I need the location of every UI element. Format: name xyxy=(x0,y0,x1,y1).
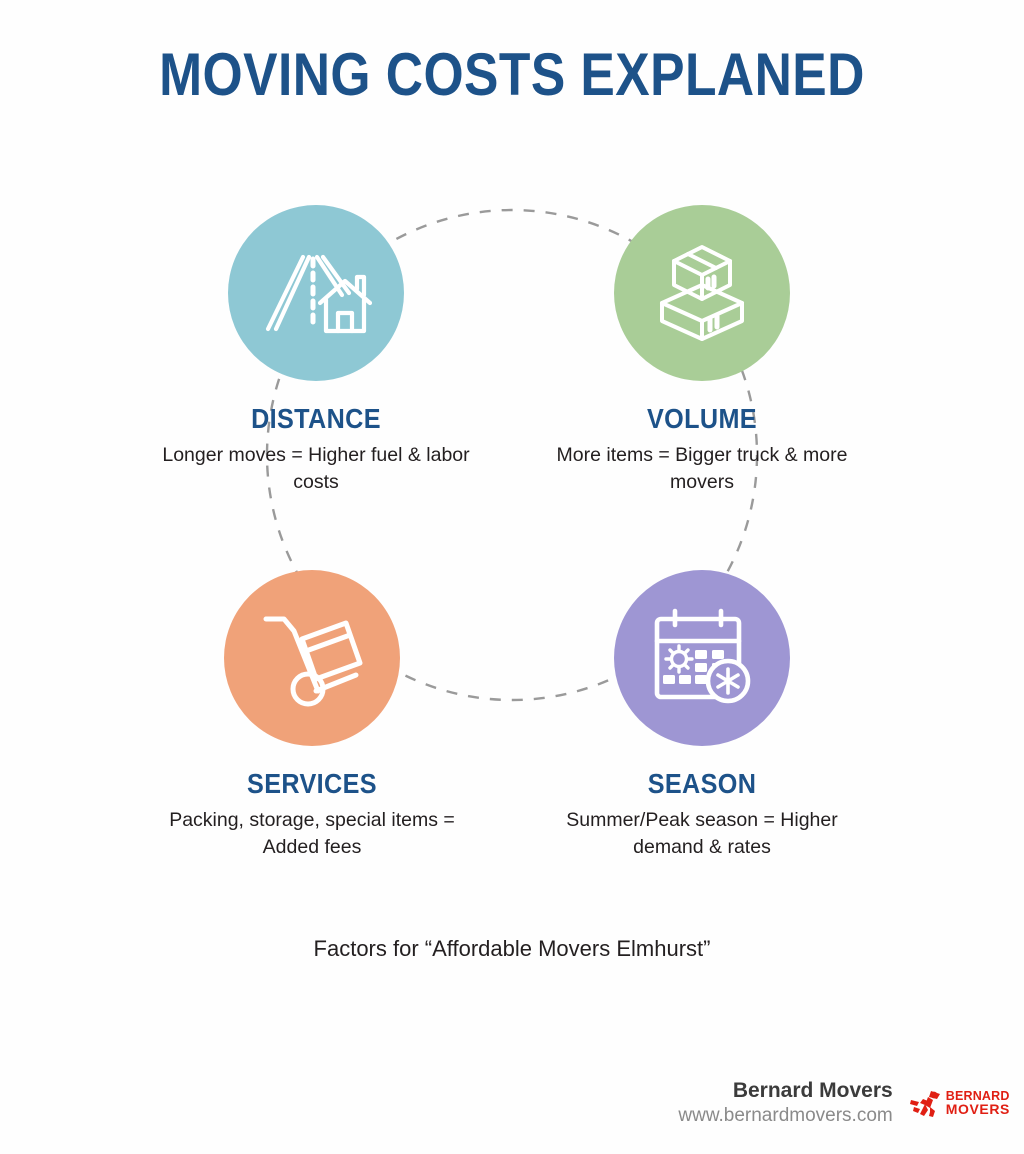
logo-line-2: MOVERS xyxy=(946,1102,1010,1116)
node-desc-volume: More items = Bigger truck & more movers xyxy=(522,442,882,496)
page-title: MOVING COSTS EXPLANED xyxy=(72,40,953,109)
icon-circle-volume xyxy=(614,205,790,381)
footer-text-block: Bernard Movers www.bernardmovers.com xyxy=(678,1078,892,1128)
node-volume[interactable]: VOLUME More items = Bigger truck & more … xyxy=(522,205,882,496)
footer: Bernard Movers www.bernardmovers.com BER… xyxy=(678,1078,1010,1128)
bernard-movers-running-figure-icon xyxy=(909,1088,943,1118)
node-label-services: SERVICES xyxy=(150,768,474,800)
node-label-volume: VOLUME xyxy=(540,403,864,435)
node-season[interactable]: SEASON Summer/Peak season = Higher deman… xyxy=(522,570,882,861)
footer-brand-name: Bernard Movers xyxy=(678,1078,892,1104)
brand-logo[interactable]: BERNARD MOVERS xyxy=(909,1088,1010,1118)
footer-website-url[interactable]: www.bernardmovers.com xyxy=(678,1104,892,1128)
node-distance[interactable]: DISTANCE Longer moves = Higher fuel & la… xyxy=(136,205,496,496)
node-desc-services: Packing, storage, special items = Added … xyxy=(132,807,492,861)
node-label-season: SEASON xyxy=(540,768,864,800)
node-services[interactable]: SERVICES Packing, storage, special items… xyxy=(132,570,492,861)
icon-circle-services xyxy=(224,570,400,746)
stacked-boxes-icon xyxy=(650,241,754,345)
caption-text: Factors for “Affordable Movers Elmhurst” xyxy=(0,936,1024,962)
node-label-distance: DISTANCE xyxy=(154,403,478,435)
node-desc-distance: Longer moves = Higher fuel & labor costs xyxy=(136,442,496,496)
logo-wordmark: BERNARD MOVERS xyxy=(946,1090,1010,1117)
infographic-canvas: MOVING COSTS EXPLANED xyxy=(0,0,1024,1154)
road-house-icon xyxy=(260,245,372,341)
node-desc-season: Summer/Peak season = Higher demand & rat… xyxy=(522,807,882,861)
icon-circle-distance xyxy=(228,205,404,381)
calendar-sun-snowflake-icon xyxy=(649,607,755,709)
hand-truck-icon xyxy=(256,609,368,707)
icon-circle-season xyxy=(614,570,790,746)
